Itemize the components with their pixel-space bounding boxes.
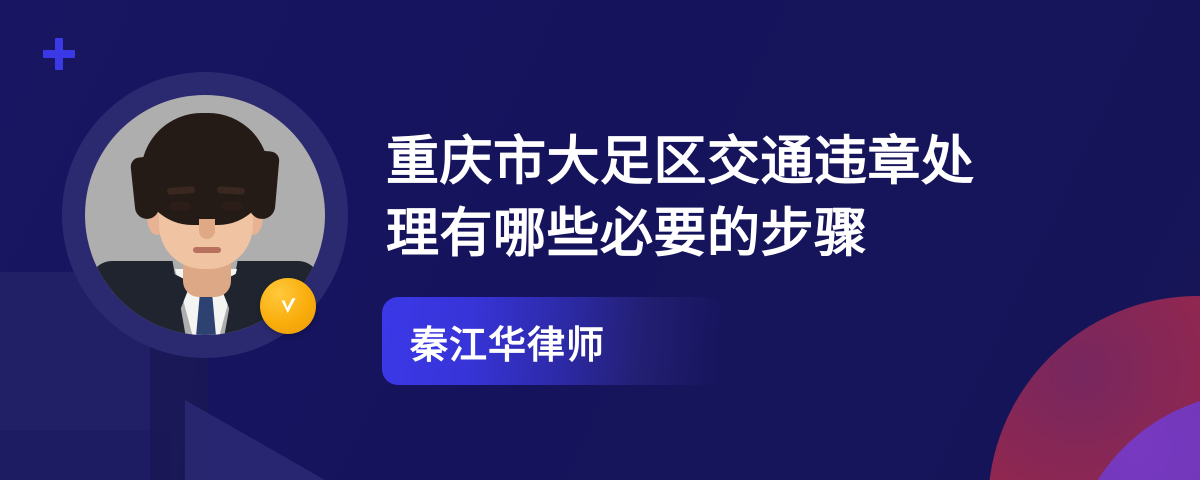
plus-icon [43, 38, 75, 70]
plus-icon-bar-vertical [55, 38, 63, 70]
portrait-nose [199, 219, 215, 239]
portrait-eye-left [169, 201, 191, 211]
author-badge[interactable]: 秦江华律师 [382, 297, 724, 385]
page-title: 重庆市大足区交通违章处 理有哪些必要的步骤 [386, 126, 1086, 270]
verified-check-icon [260, 278, 316, 334]
portrait-hair-side [248, 150, 280, 220]
author-name-label: 秦江华律师 [382, 314, 605, 369]
decor-wedge-triangle [185, 400, 360, 480]
avatar[interactable] [62, 72, 348, 358]
portrait-mouth [193, 247, 221, 253]
decor-wedge-lower-left [0, 430, 170, 480]
portrait-eye-right [221, 201, 243, 211]
lawyer-article-card: 重庆市大足区交通违章处 理有哪些必要的步骤 秦江华律师 [0, 0, 1200, 480]
